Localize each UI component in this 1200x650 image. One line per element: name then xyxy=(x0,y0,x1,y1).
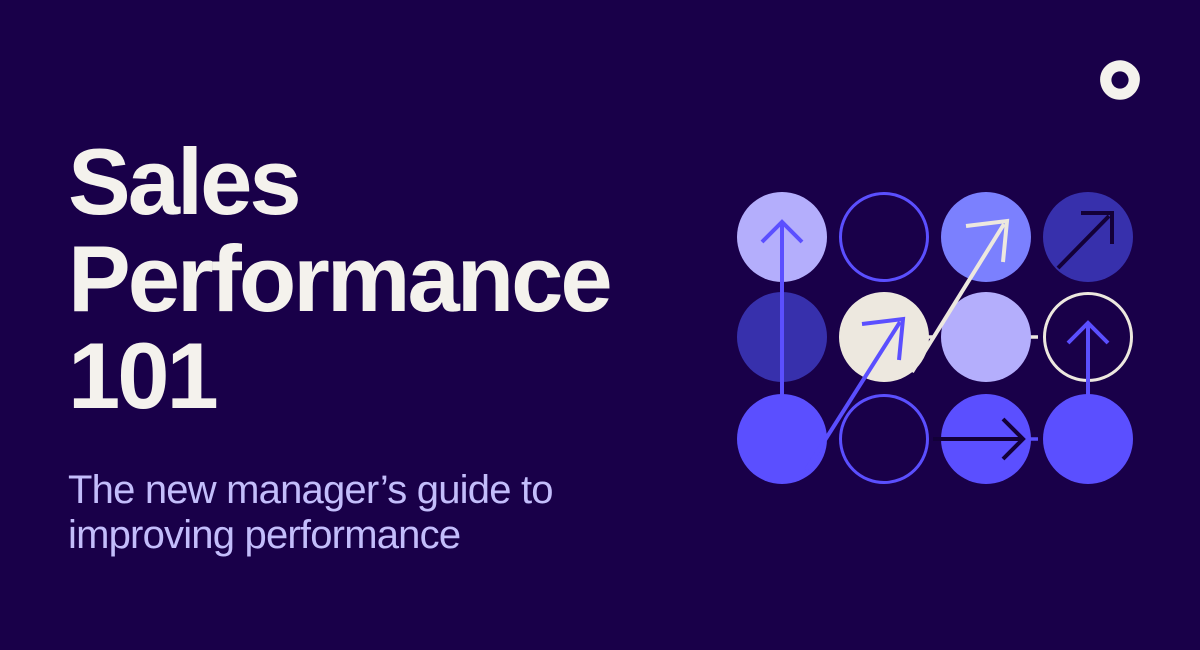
blob-ring-logo-icon xyxy=(1098,58,1142,102)
page-title: Sales Performance 101 xyxy=(68,134,708,424)
circle-r1c2-outline-bright-blue xyxy=(841,194,928,281)
circle-r3c2-outline-bright-blue xyxy=(841,396,928,483)
sales-performance-circle-grid xyxy=(720,180,1160,500)
circle-grid-svg xyxy=(720,180,1160,500)
poster-canvas: Sales Performance 101 The new manager’s … xyxy=(0,0,1200,650)
brand-logo xyxy=(1098,58,1142,102)
circle-r1c3-medium-blue xyxy=(941,192,1031,282)
hero-text-block: Sales Performance 101 xyxy=(68,134,708,424)
page-subtitle: The new manager’s guide to improving per… xyxy=(68,468,708,558)
